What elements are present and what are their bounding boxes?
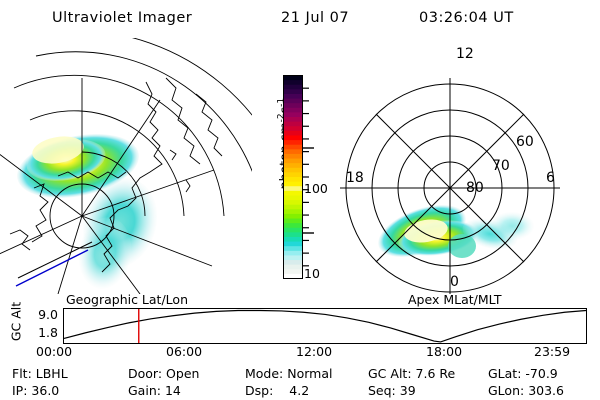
mlat-label-70: 70 — [492, 158, 510, 174]
status-glat: GLat: -70.9 — [488, 366, 558, 381]
status-gcalt-value: 7.6 Re — [416, 366, 456, 381]
instrument-title: Ultraviolet Imager — [52, 10, 192, 26]
status-gcalt-label: GC Alt: — [368, 366, 412, 381]
orbit-ytick-low: 1.8 — [26, 325, 58, 340]
ultraviolet-imager-window: Ultraviolet Imager 21 Jul 07 03:26:04 UT — [0, 0, 600, 400]
status-glon-label: GLon: — [488, 383, 524, 398]
status-mode-value: Normal — [287, 366, 332, 381]
colorbar-tick-marks — [303, 88, 315, 266]
status-glon-value: 303.6 — [528, 383, 564, 398]
status-ip-value: 36.0 — [31, 383, 59, 398]
observation-date: 21 Jul 07 — [281, 10, 349, 26]
status-door-label: Door: — [128, 366, 162, 381]
colorbar-swatch-svg — [283, 75, 327, 283]
status-gcalt: GC Alt: 7.6 Re — [368, 366, 455, 381]
status-gain: Gain: 14 — [128, 383, 181, 398]
status-dsp-label: Dsp: — [245, 383, 273, 398]
orbit-xtick-3: 18:00 — [426, 344, 462, 359]
status-seq-label: Seq: — [368, 383, 396, 398]
orbit-xtick-0: 00:00 — [36, 344, 72, 359]
mlt-label-12: 12 — [456, 46, 474, 62]
orbit-altitude-strip[interactable]: Geographic Lat/Lon Apex MLat/MLT GC Alt … — [0, 292, 600, 360]
status-door: Door: Open — [128, 366, 199, 381]
orbit-xtick-4: 23:59 — [534, 344, 570, 359]
status-gain-value: 14 — [165, 383, 181, 398]
status-glat-value: -70.9 — [525, 366, 557, 381]
orbit-xtick-2: 12:00 — [296, 344, 332, 359]
mlat-mlt-dial-svg: 12 18 6 0 60 70 80 — [330, 38, 600, 294]
mlt-label-0: 0 — [450, 274, 459, 290]
magnetic-dial-panel[interactable]: 12 18 6 0 60 70 80 — [330, 38, 600, 294]
mlat-label-80: 80 — [466, 180, 484, 196]
mlt-spokes — [340, 78, 560, 294]
geographic-projection-svg — [0, 38, 252, 294]
status-ip: IP: 36.0 — [12, 383, 59, 398]
status-mode-label: Mode: — [245, 366, 283, 381]
orbit-altitude-plot-svg — [63, 308, 587, 344]
header-bar: Ultraviolet Imager 21 Jul 07 03:26:04 UT — [0, 6, 600, 32]
magnetic-panel-caption: Apex MLat/MLT — [408, 292, 502, 307]
status-door-value: Open — [166, 366, 199, 381]
colorbar-tick-label-10: 10 — [304, 266, 320, 281]
status-dsp-value: 4.2 — [289, 383, 309, 398]
orbit-xtick-1: 06:00 — [166, 344, 202, 359]
colorbar-color-swatches — [284, 76, 303, 280]
status-gain-label: Gain: — [128, 383, 161, 398]
mlt-label-6: 6 — [546, 170, 555, 186]
status-footer: Flt: LBHL Door: Open Mode: Normal GC Alt… — [0, 364, 600, 400]
aurora-emission-magnetic — [371, 195, 534, 268]
mlat-label-60: 60 — [516, 134, 534, 150]
orbit-ytick-high: 9.0 — [26, 307, 58, 322]
status-dsp: Dsp: 4.2 — [245, 383, 309, 398]
orbit-altitude-curve — [64, 311, 586, 342]
mlt-label-18: 18 — [346, 170, 364, 186]
status-seq-value: 39 — [400, 383, 416, 398]
intensity-colorbar[interactable]: photon cm-2s-1 100 10 — [255, 40, 327, 292]
status-glat-label: GLat: — [488, 366, 521, 381]
observation-time: 03:26:04 UT — [419, 10, 514, 26]
geographic-image-panel[interactable] — [0, 38, 252, 294]
geographic-panel-caption: Geographic Lat/Lon — [66, 292, 188, 307]
colorbar-tick-label-100: 100 — [304, 181, 328, 196]
status-glon: GLon: 303.6 — [488, 383, 564, 398]
status-seq: Seq: 39 — [368, 383, 416, 398]
status-mode: Mode: Normal — [245, 366, 333, 381]
orbit-y-axis-label: GC Alt — [9, 290, 24, 354]
status-flt: Flt: LBHL — [12, 366, 68, 381]
status-flt-value: LBHL — [36, 366, 68, 381]
status-ip-label: IP: — [12, 383, 27, 398]
status-flt-label: Flt: — [12, 366, 32, 381]
